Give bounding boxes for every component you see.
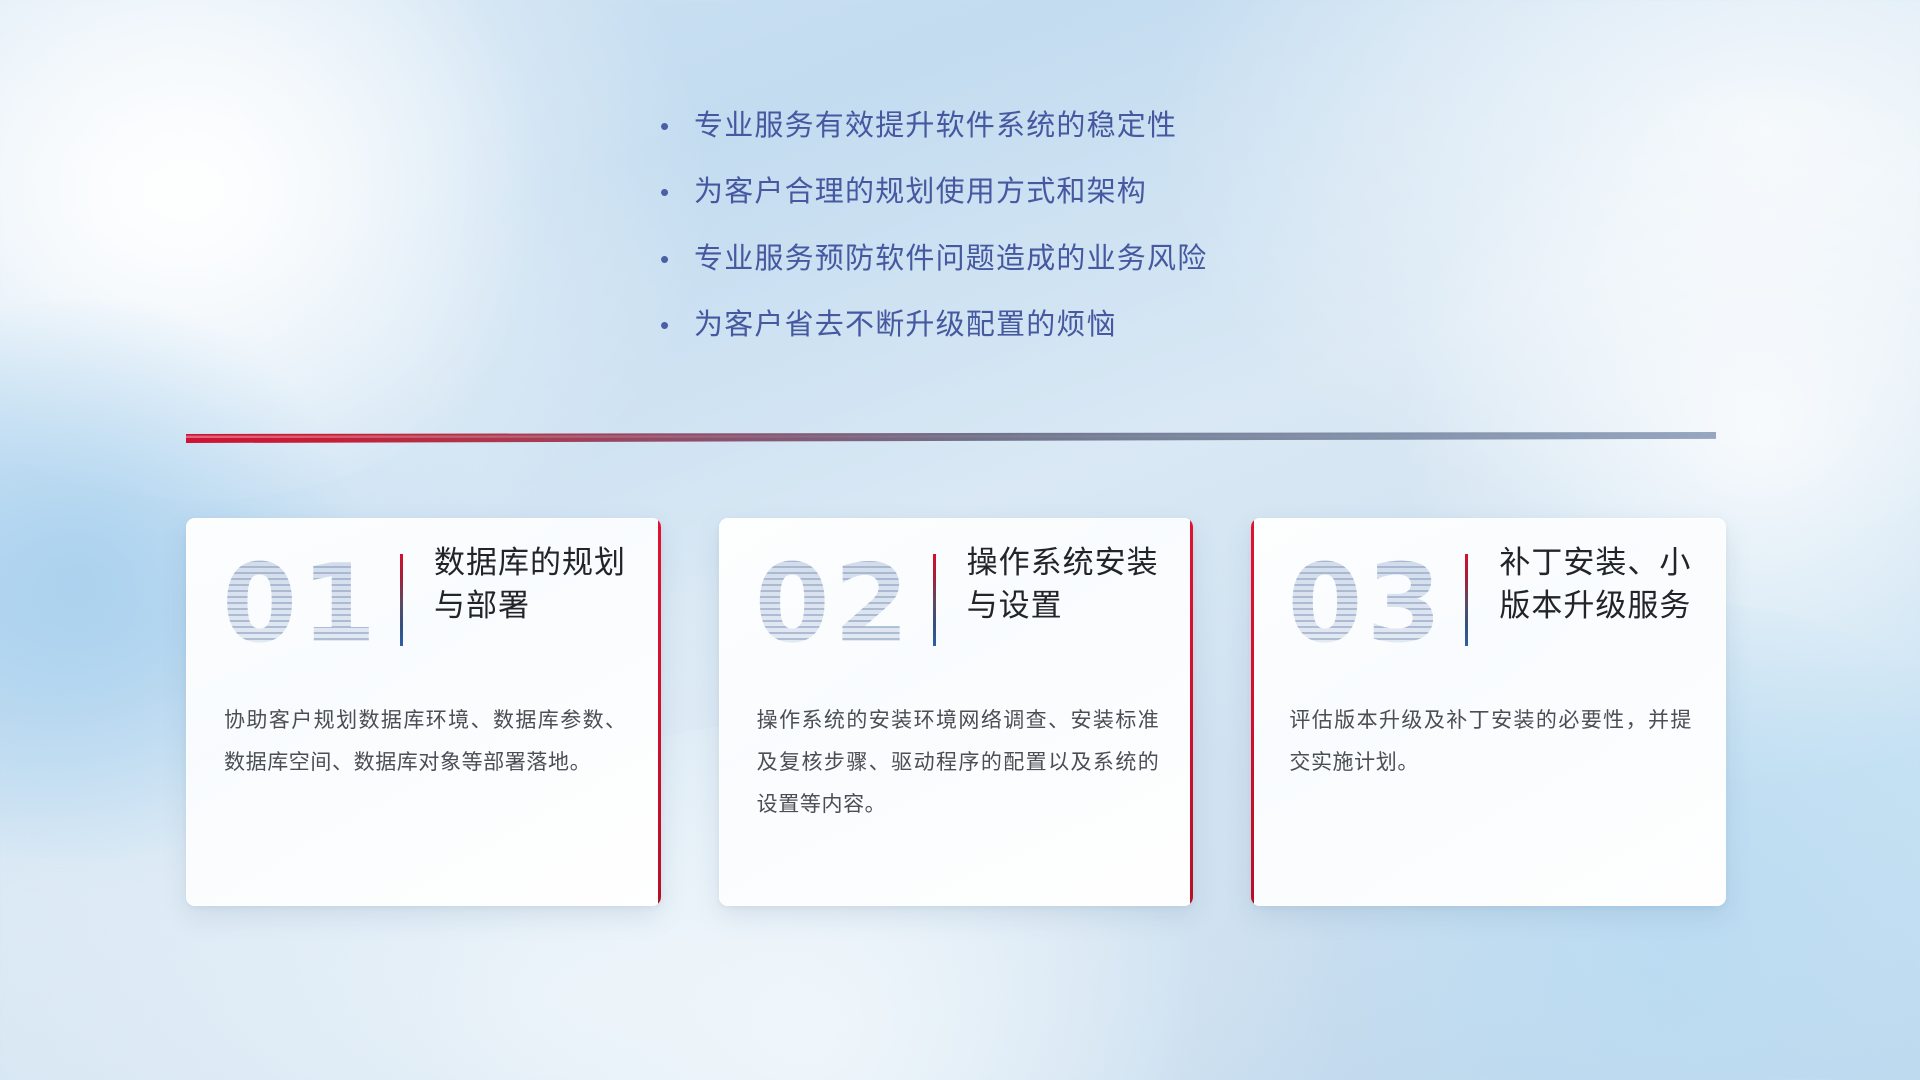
bullet-text: 专业服务有效提升软件系统的稳定性 — [694, 108, 1177, 144]
card-title: 数据库的规划与部署 — [434, 542, 635, 628]
card-number: 03 — [1287, 542, 1445, 667]
service-card-02[interactable]: 02 操作系统安装与设置 操作系统的安装环境网络调查、安装标准及复核步骤、驱动程… — [719, 518, 1194, 906]
card-header: 02 操作系统安装与设置 — [719, 518, 1194, 682]
title-divider-bar — [933, 554, 936, 646]
list-item: • 专业服务有效提升软件系统的稳定性 — [660, 108, 1207, 144]
title-divider-bar — [400, 554, 403, 646]
bullet-dot-icon: • — [660, 246, 694, 272]
section-divider — [186, 432, 1716, 448]
list-item: • 为客户省去不断升级配置的烦恼 — [660, 307, 1207, 343]
bullet-dot-icon: • — [660, 179, 694, 205]
card-title: 补丁安装、小版本升级服务 — [1499, 542, 1700, 628]
card-header: 01 数据库的规划与部署 — [186, 518, 661, 682]
bullet-dot-icon: • — [660, 312, 694, 338]
card-description: 协助客户规划数据库环境、数据库参数、数据库空间、数据库对象等部署落地。 — [224, 700, 627, 784]
title-divider-bar — [1465, 554, 1468, 646]
card-title: 操作系统安装与设置 — [967, 542, 1168, 628]
card-number: 01 — [222, 542, 380, 667]
benefits-bullet-list: • 专业服务有效提升软件系统的稳定性 • 为客户合理的规划使用方式和架构 • 专… — [660, 108, 1207, 343]
card-description: 评估版本升级及补丁安装的必要性，并提交实施计划。 — [1289, 700, 1692, 784]
list-item: • 为客户合理的规划使用方式和架构 — [660, 174, 1207, 210]
card-number: 02 — [755, 542, 913, 667]
background-glow-top-left — [0, 0, 580, 500]
bullet-text: 为客户省去不断升级配置的烦恼 — [694, 307, 1117, 343]
card-header: 03 补丁安装、小版本升级服务 — [1251, 518, 1726, 682]
bullet-text: 为客户合理的规划使用方式和架构 — [694, 174, 1147, 210]
card-description: 操作系统的安装环境网络调查、安装标准及复核步骤、驱动程序的配置以及系统的设置等内… — [757, 700, 1160, 826]
bullet-dot-icon: • — [660, 113, 694, 139]
bullet-text: 专业服务预防软件问题造成的业务风险 — [694, 241, 1207, 277]
service-card-03[interactable]: 03 补丁安装、小版本升级服务 评估版本升级及补丁安装的必要性，并提交实施计划。 — [1251, 518, 1726, 906]
service-card-list: 01 数据库的规划与部署 协助客户规划数据库环境、数据库参数、数据库空间、数据库… — [186, 518, 1726, 906]
service-card-01[interactable]: 01 数据库的规划与部署 协助客户规划数据库环境、数据库参数、数据库空间、数据库… — [186, 518, 661, 906]
list-item: • 专业服务预防软件问题造成的业务风险 — [660, 241, 1207, 277]
